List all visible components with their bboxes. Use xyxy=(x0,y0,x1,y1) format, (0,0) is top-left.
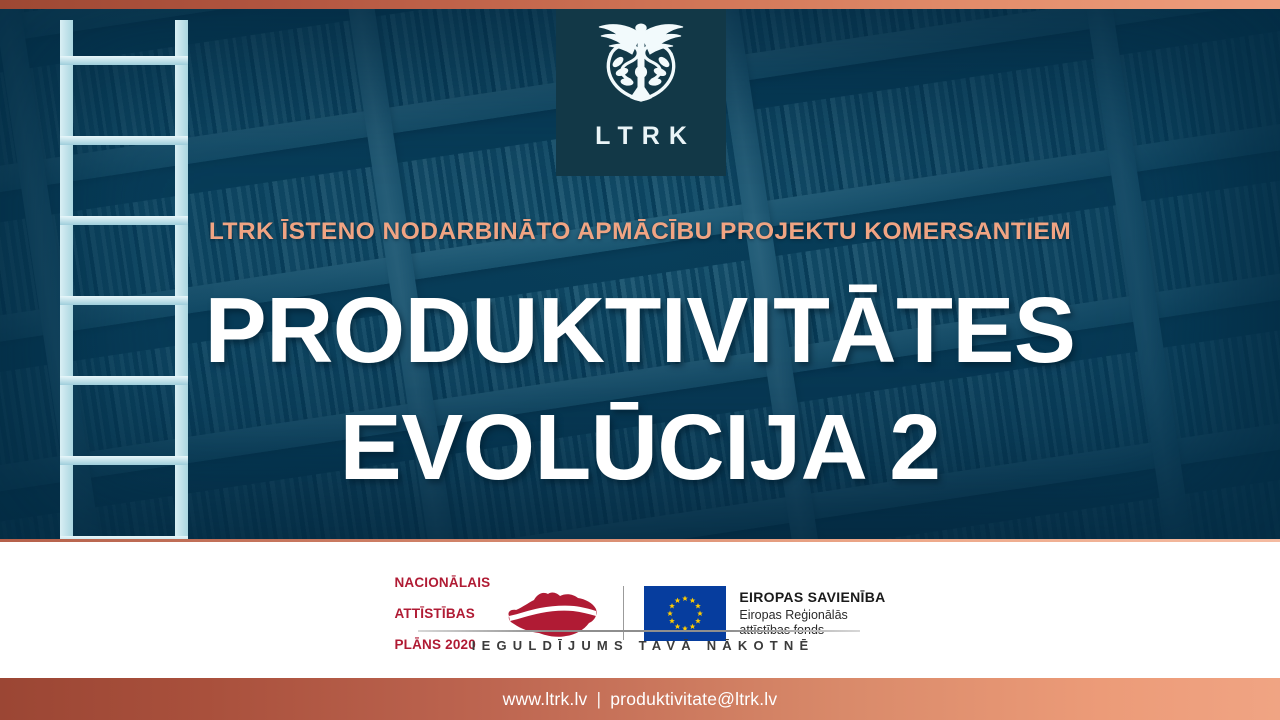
eu-subtitle: Eiropas Reģionālās attīstības fonds xyxy=(739,608,885,638)
tagline-rule xyxy=(418,630,860,632)
slide-kicker: LTRK ĪSTENO NODARBINĀTO APMĀCĪBU PROJEKT… xyxy=(0,218,1280,246)
ltrk-logo-block: LTRK xyxy=(556,0,726,176)
hero-bottom-rule xyxy=(0,539,1280,542)
nap-line-2: ATTĪSTĪBAS xyxy=(394,606,490,622)
funder-divider xyxy=(623,586,624,640)
nap-line-1: NACIONĀLAIS xyxy=(394,575,490,591)
email-link[interactable]: produktivitate@ltrk.lv xyxy=(610,689,777,710)
presentation-slide: LTRK LTRK ĪSTENO NODARBINĀTO APMĀCĪBU PR… xyxy=(0,0,1280,720)
eu-flag-icon xyxy=(644,586,726,641)
funders-band: NACIONĀLAIS ATTĪSTĪBAS PLĀNS 2020 xyxy=(0,542,1280,678)
title-line-2: EVOLŪCIJA 2 xyxy=(0,389,1280,506)
ltrk-emblem-icon xyxy=(585,16,697,108)
page-title: PRODUKTIVITĀTES EVOLŪCIJA 2 xyxy=(0,272,1280,506)
contact-bar: www.ltrk.lv | produktivitate@ltrk.lv xyxy=(0,678,1280,720)
latvia-map-icon xyxy=(503,585,599,641)
funders-tagline: IEGULDĪJUMS TAVĀ NĀKOTNĒ xyxy=(0,638,1280,653)
contact-separator: | xyxy=(597,689,602,710)
eu-title: EIROPAS SAVIENĪBA xyxy=(739,589,885,605)
ltrk-wordmark: LTRK xyxy=(586,124,696,149)
website-link[interactable]: www.ltrk.lv xyxy=(503,689,588,710)
top-accent-bar xyxy=(0,0,1280,9)
eu-logo: EIROPAS SAVIENĪBA Eiropas Reģionālās att… xyxy=(644,586,885,641)
title-line-1: PRODUKTIVITĀTES xyxy=(205,278,1076,382)
